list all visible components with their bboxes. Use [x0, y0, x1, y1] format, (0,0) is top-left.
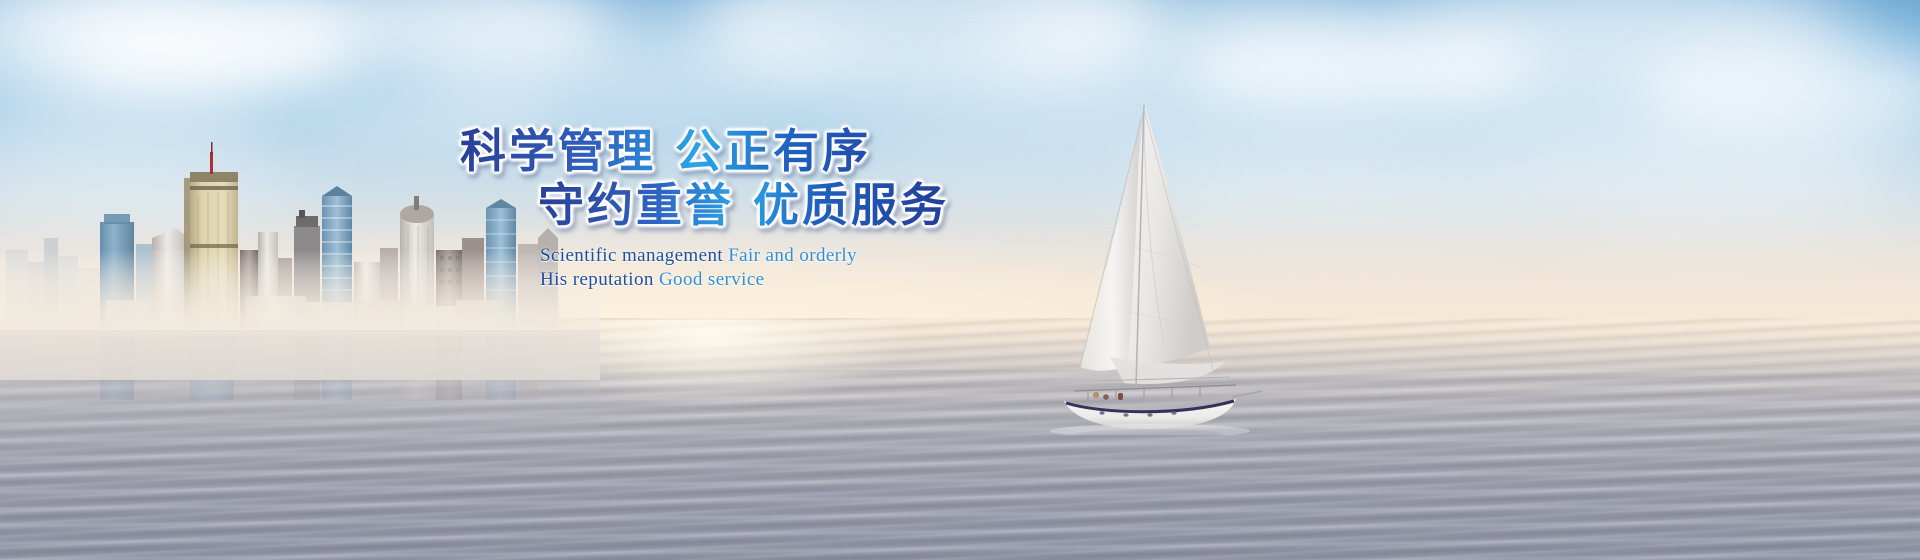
headline-line-2: 守约重誉 优质服务	[538, 179, 960, 233]
subtitle-line-1-part-b: Fair and orderly	[728, 245, 857, 266]
headline-line-1: 科学管理 公正有序	[460, 125, 960, 179]
sailboat-svg	[1040, 95, 1270, 435]
subtitle-line-1-part-a: Scientific management	[540, 245, 728, 266]
city-reflection	[100, 330, 538, 400]
subtitle-line-2: His reputation Good service	[540, 269, 765, 291]
subtitle-line-2-part-a: His reputation	[540, 269, 659, 290]
sailboat	[1040, 95, 1270, 435]
city-mist-fade	[0, 250, 560, 336]
subtitle-line-2-part-b: Good service	[659, 269, 765, 290]
bowsprit	[1232, 391, 1262, 397]
crew-figure	[1093, 392, 1099, 398]
hero-banner: 科学管理 公正有序 守约重誉 优质服务 Scientific managemen…	[0, 0, 1920, 560]
headline: 科学管理 公正有序 守约重誉 优质服务	[440, 125, 960, 233]
subtitle-line-1: Scientific management Fair and orderly	[540, 245, 857, 267]
